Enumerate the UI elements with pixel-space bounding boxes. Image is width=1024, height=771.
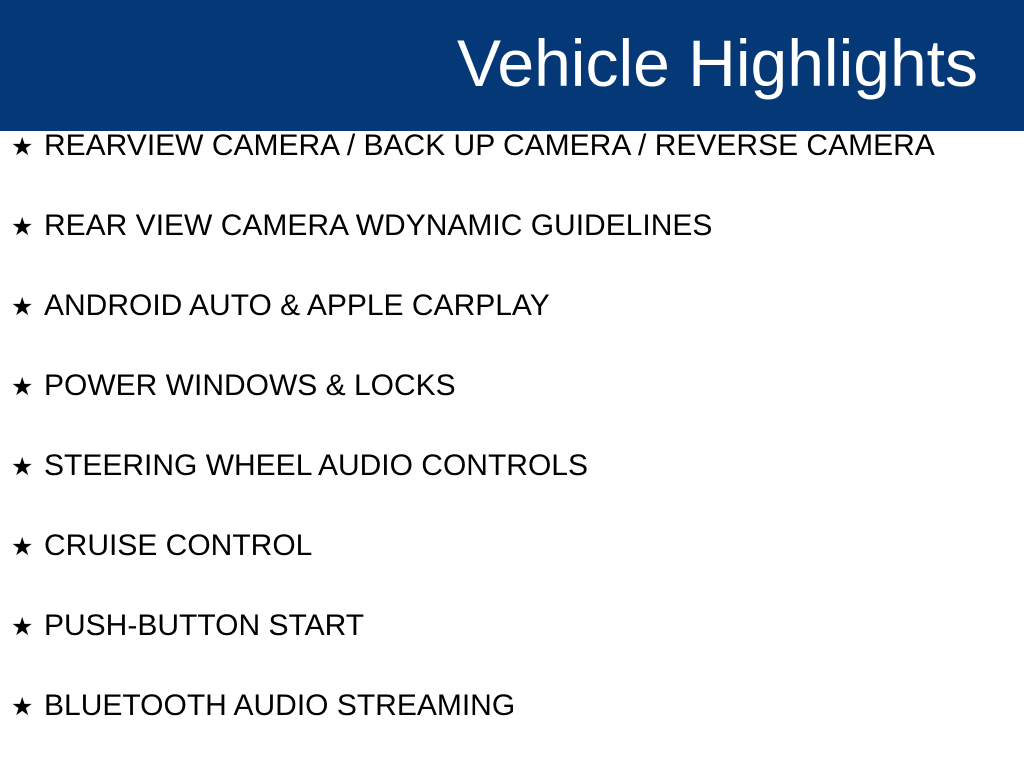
highlight-label: STEERING WHEEL AUDIO CONTROLS (44, 451, 588, 481)
highlight-label: BLUETOOTH AUDIO STREAMING (44, 691, 515, 721)
highlight-label: PUSH-BUTTON START (44, 611, 364, 641)
list-item: ★ POWER WINDOWS & LOCKS (0, 371, 1024, 451)
star-bullet-icon: ★ (11, 694, 44, 719)
vehicle-highlights-list: ★ REARVIEW CAMERA / BACK UP CAMERA / REV… (0, 131, 1024, 771)
star-bullet-icon: ★ (11, 614, 44, 639)
star-bullet-icon: ★ (11, 374, 44, 399)
star-bullet-icon: ★ (11, 454, 44, 479)
list-item: ★ CRUISE CONTROL (0, 531, 1024, 611)
list-item: ★ STEERING WHEEL AUDIO CONTROLS (0, 451, 1024, 531)
star-bullet-icon: ★ (11, 214, 44, 239)
list-item: ★ PUSH-BUTTON START (0, 611, 1024, 691)
highlight-label: REAR VIEW CAMERA WDYNAMIC GUIDELINES (44, 211, 712, 241)
list-item: ★ BLUETOOTH AUDIO STREAMING (0, 691, 1024, 771)
vehicle-highlights-slide: Vehicle Highlights ★ REARVIEW CAMERA / B… (0, 0, 1024, 768)
highlight-label: ANDROID AUTO & APPLE CARPLAY (44, 291, 550, 321)
slide-header-band: Vehicle Highlights (0, 0, 1024, 131)
highlight-label: POWER WINDOWS & LOCKS (44, 371, 456, 401)
highlight-label: CRUISE CONTROL (44, 531, 312, 561)
star-bullet-icon: ★ (11, 294, 44, 319)
star-bullet-icon: ★ (11, 134, 44, 159)
page-title: Vehicle Highlights (457, 30, 1024, 102)
list-item: ★ REAR VIEW CAMERA WDYNAMIC GUIDELINES (0, 211, 1024, 291)
star-bullet-icon: ★ (11, 534, 44, 559)
highlight-label: REARVIEW CAMERA / BACK UP CAMERA / REVER… (44, 131, 935, 161)
list-item: ★ REARVIEW CAMERA / BACK UP CAMERA / REV… (0, 131, 1024, 211)
list-item: ★ ANDROID AUTO & APPLE CARPLAY (0, 291, 1024, 371)
